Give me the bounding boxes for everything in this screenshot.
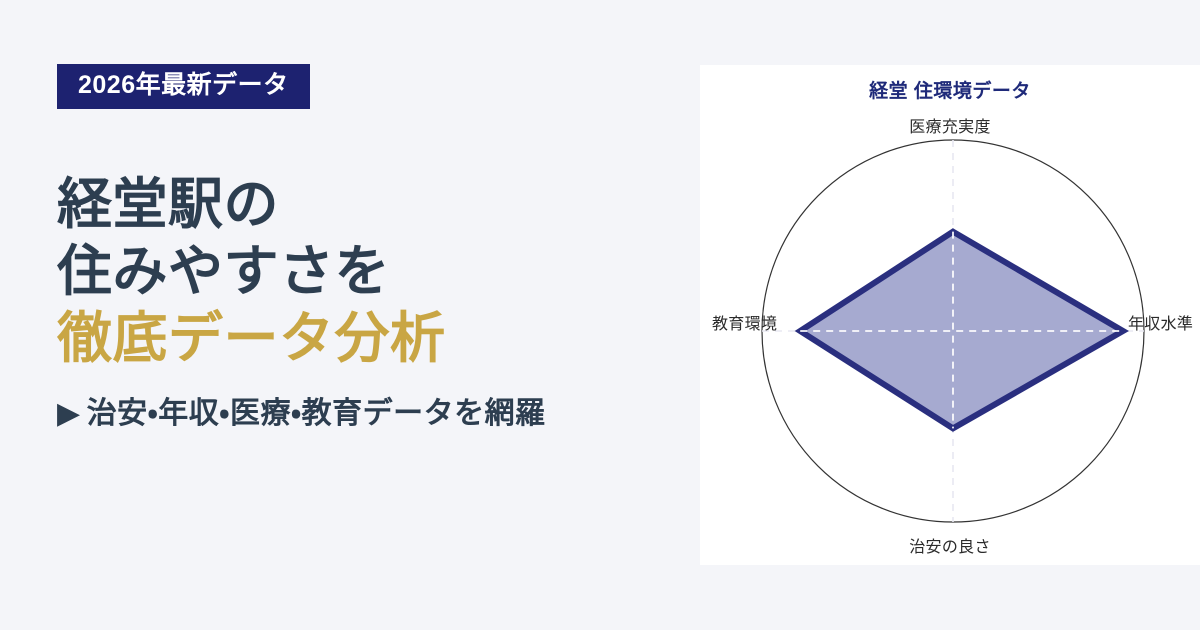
radar-data-polygon <box>800 232 1123 429</box>
left-content-column: 2026年最新データ 経堂駅の 住みやすさを 徹底データ分析 ▶治安・年収・医療… <box>57 64 697 564</box>
headline-line-1: 経堂駅の <box>57 171 697 238</box>
subtitle-text: 治安・年収・医療・教育データを網羅 <box>87 397 546 430</box>
radar-axis-label-safety: 治安の良さ <box>909 533 991 557</box>
latest-data-badge: 2026年最新データ <box>57 64 310 109</box>
radar-chart-panel: 経堂 住環境データ 医療充実度 年収水準 治安の良さ 教育環境 <box>700 65 1200 565</box>
radar-axis-label-income: 年収水準 <box>1128 310 1193 334</box>
headline-line-3-accent: 徹底データ分析 <box>57 305 697 372</box>
subtitle: ▶治安・年収・医療・教育データを網羅 <box>57 388 697 432</box>
triangle-right-icon: ▶ <box>57 396 81 431</box>
og-image-canvas: 2026年最新データ 経堂駅の 住みやすさを 徹底データ分析 ▶治安・年収・医療… <box>0 0 1200 630</box>
radar-axis-label-medical: 医療充実度 <box>909 113 991 137</box>
page-title: 経堂駅の 住みやすさを 徹底データ分析 <box>57 171 697 372</box>
radar-axis-label-education: 教育環境 <box>712 310 777 334</box>
headline-line-2: 住みやすさを <box>57 238 697 305</box>
